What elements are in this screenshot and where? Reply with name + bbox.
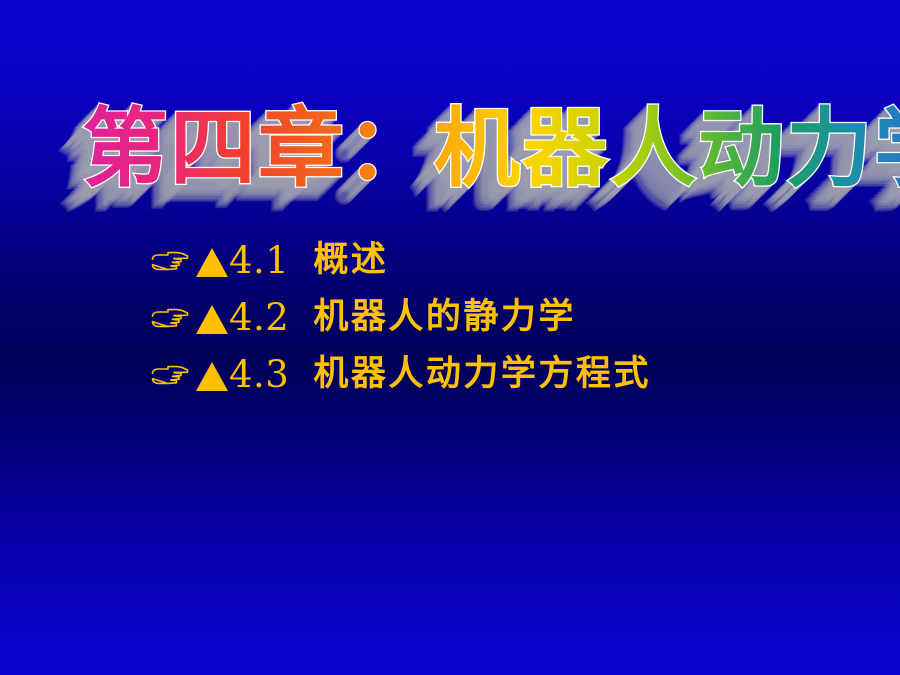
pointing-hand-icon: [148, 304, 190, 334]
pointing-hand-icon: [148, 361, 190, 391]
list-item-label: 机器人的静力学: [313, 300, 576, 335]
list-item-number: 4.2: [229, 299, 289, 336]
wordart-title: 第四章：机器人动力学初步 第四章：机器人动力学初步 第四章：机器人动力学初步 第…: [0, 74, 900, 198]
list-item[interactable]: 4.1 概述: [148, 232, 868, 289]
list-item[interactable]: 4.2 机器人的静力学: [148, 289, 868, 346]
pointing-hand-icon: [148, 247, 190, 277]
svg-text:第四章：机器人动力学初步: 第四章：机器人动力学初步: [82, 99, 900, 199]
filled-triangle-icon: [196, 305, 228, 334]
agenda-list: 4.1 概述 4.2 机器人的静力学: [148, 232, 868, 403]
list-item-label: 机器人动力学方程式: [313, 357, 651, 392]
list-item-number: 4.3: [229, 356, 289, 393]
list-item-label: 概述: [313, 243, 388, 278]
list-item[interactable]: 4.3 机器人动力学方程式: [148, 346, 868, 403]
filled-triangle-icon: [196, 362, 228, 391]
list-item-number: 4.1: [229, 242, 289, 279]
presentation-slide: 第四章：机器人动力学初步 第四章：机器人动力学初步 第四章：机器人动力学初步 第…: [0, 0, 900, 675]
filled-triangle-icon: [196, 248, 228, 277]
slide-title: 第四章：机器人动力学初步 第四章：机器人动力学初步 第四章：机器人动力学初步 第…: [0, 74, 900, 198]
